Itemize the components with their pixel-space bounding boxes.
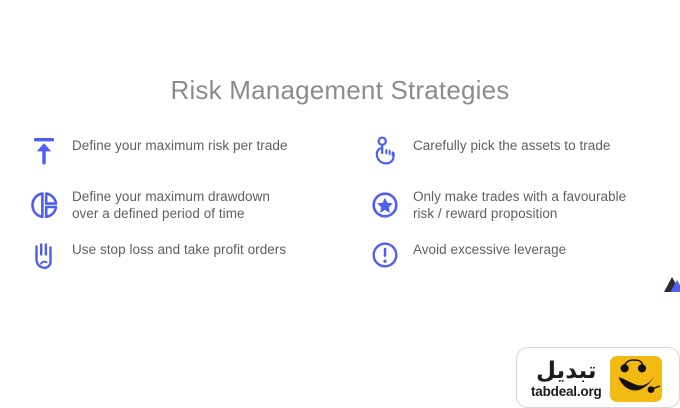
brand-watermark-badge: تبدیل tabdeal.org [516, 347, 680, 408]
tabdeal-smiley-icon [610, 356, 662, 402]
strategy-text: Avoid excessive leverage [413, 236, 566, 258]
strategy-text-line-2: risk / reward proposition [413, 205, 626, 222]
star-circle-icon [371, 188, 401, 222]
strategy-item: Carefully pick the assets to trade [371, 132, 670, 172]
strategy-item: Define your maximum drawdown over a defi… [30, 188, 369, 228]
strategy-column-left: Define your maximum risk per trade Defin… [30, 132, 369, 290]
arrow-up-to-limit-icon [30, 132, 60, 168]
strategy-text: Define your maximum drawdown over a defi… [72, 188, 270, 222]
strategy-item: Only make trades with a favourable risk … [371, 188, 670, 228]
strategy-text-line-2: over a defined period of time [72, 205, 270, 222]
strategy-text-line-1: Use stop loss and take profit orders [72, 242, 286, 257]
strategy-text: Use stop loss and take profit orders [72, 236, 286, 258]
strategy-item: Use stop loss and take profit orders [30, 236, 369, 276]
strategy-text: Define your maximum risk per trade [72, 132, 288, 154]
strategy-columns: Define your maximum risk per trade Defin… [30, 132, 670, 290]
strategy-text-line-1: Define your maximum drawdown [72, 189, 270, 204]
strategy-text-line-1: Carefully pick the assets to trade [413, 138, 611, 153]
strategy-text-line-1: Only make trades with a favourable [413, 189, 626, 204]
exclamation-circle-icon [371, 236, 401, 272]
brand-wordmark: تبدیل tabdeal.org [531, 358, 602, 400]
strategy-text-line-1: Define your maximum risk per trade [72, 138, 288, 153]
strategy-item: Avoid excessive leverage [371, 236, 670, 276]
brand-name-en: tabdeal.org [531, 384, 602, 400]
brand-inner: تبدیل tabdeal.org [531, 356, 662, 402]
pie-chart-icon [30, 188, 60, 222]
strategy-text: Only make trades with a favourable risk … [413, 188, 626, 222]
brand-name-fa: تبدیل [536, 358, 596, 384]
tap-gesture-icon [371, 132, 401, 168]
strategy-item: Define your maximum risk per trade [30, 132, 369, 172]
stop-hand-icon [30, 236, 60, 272]
strategy-text-line-1: Avoid excessive leverage [413, 242, 566, 257]
strategy-column-right: Carefully pick the assets to trade Only … [371, 132, 670, 290]
page-title: Risk Management Strategies [0, 73, 680, 107]
strategy-text: Carefully pick the assets to trade [413, 132, 611, 154]
partial-brand-mark-icon [663, 274, 680, 294]
